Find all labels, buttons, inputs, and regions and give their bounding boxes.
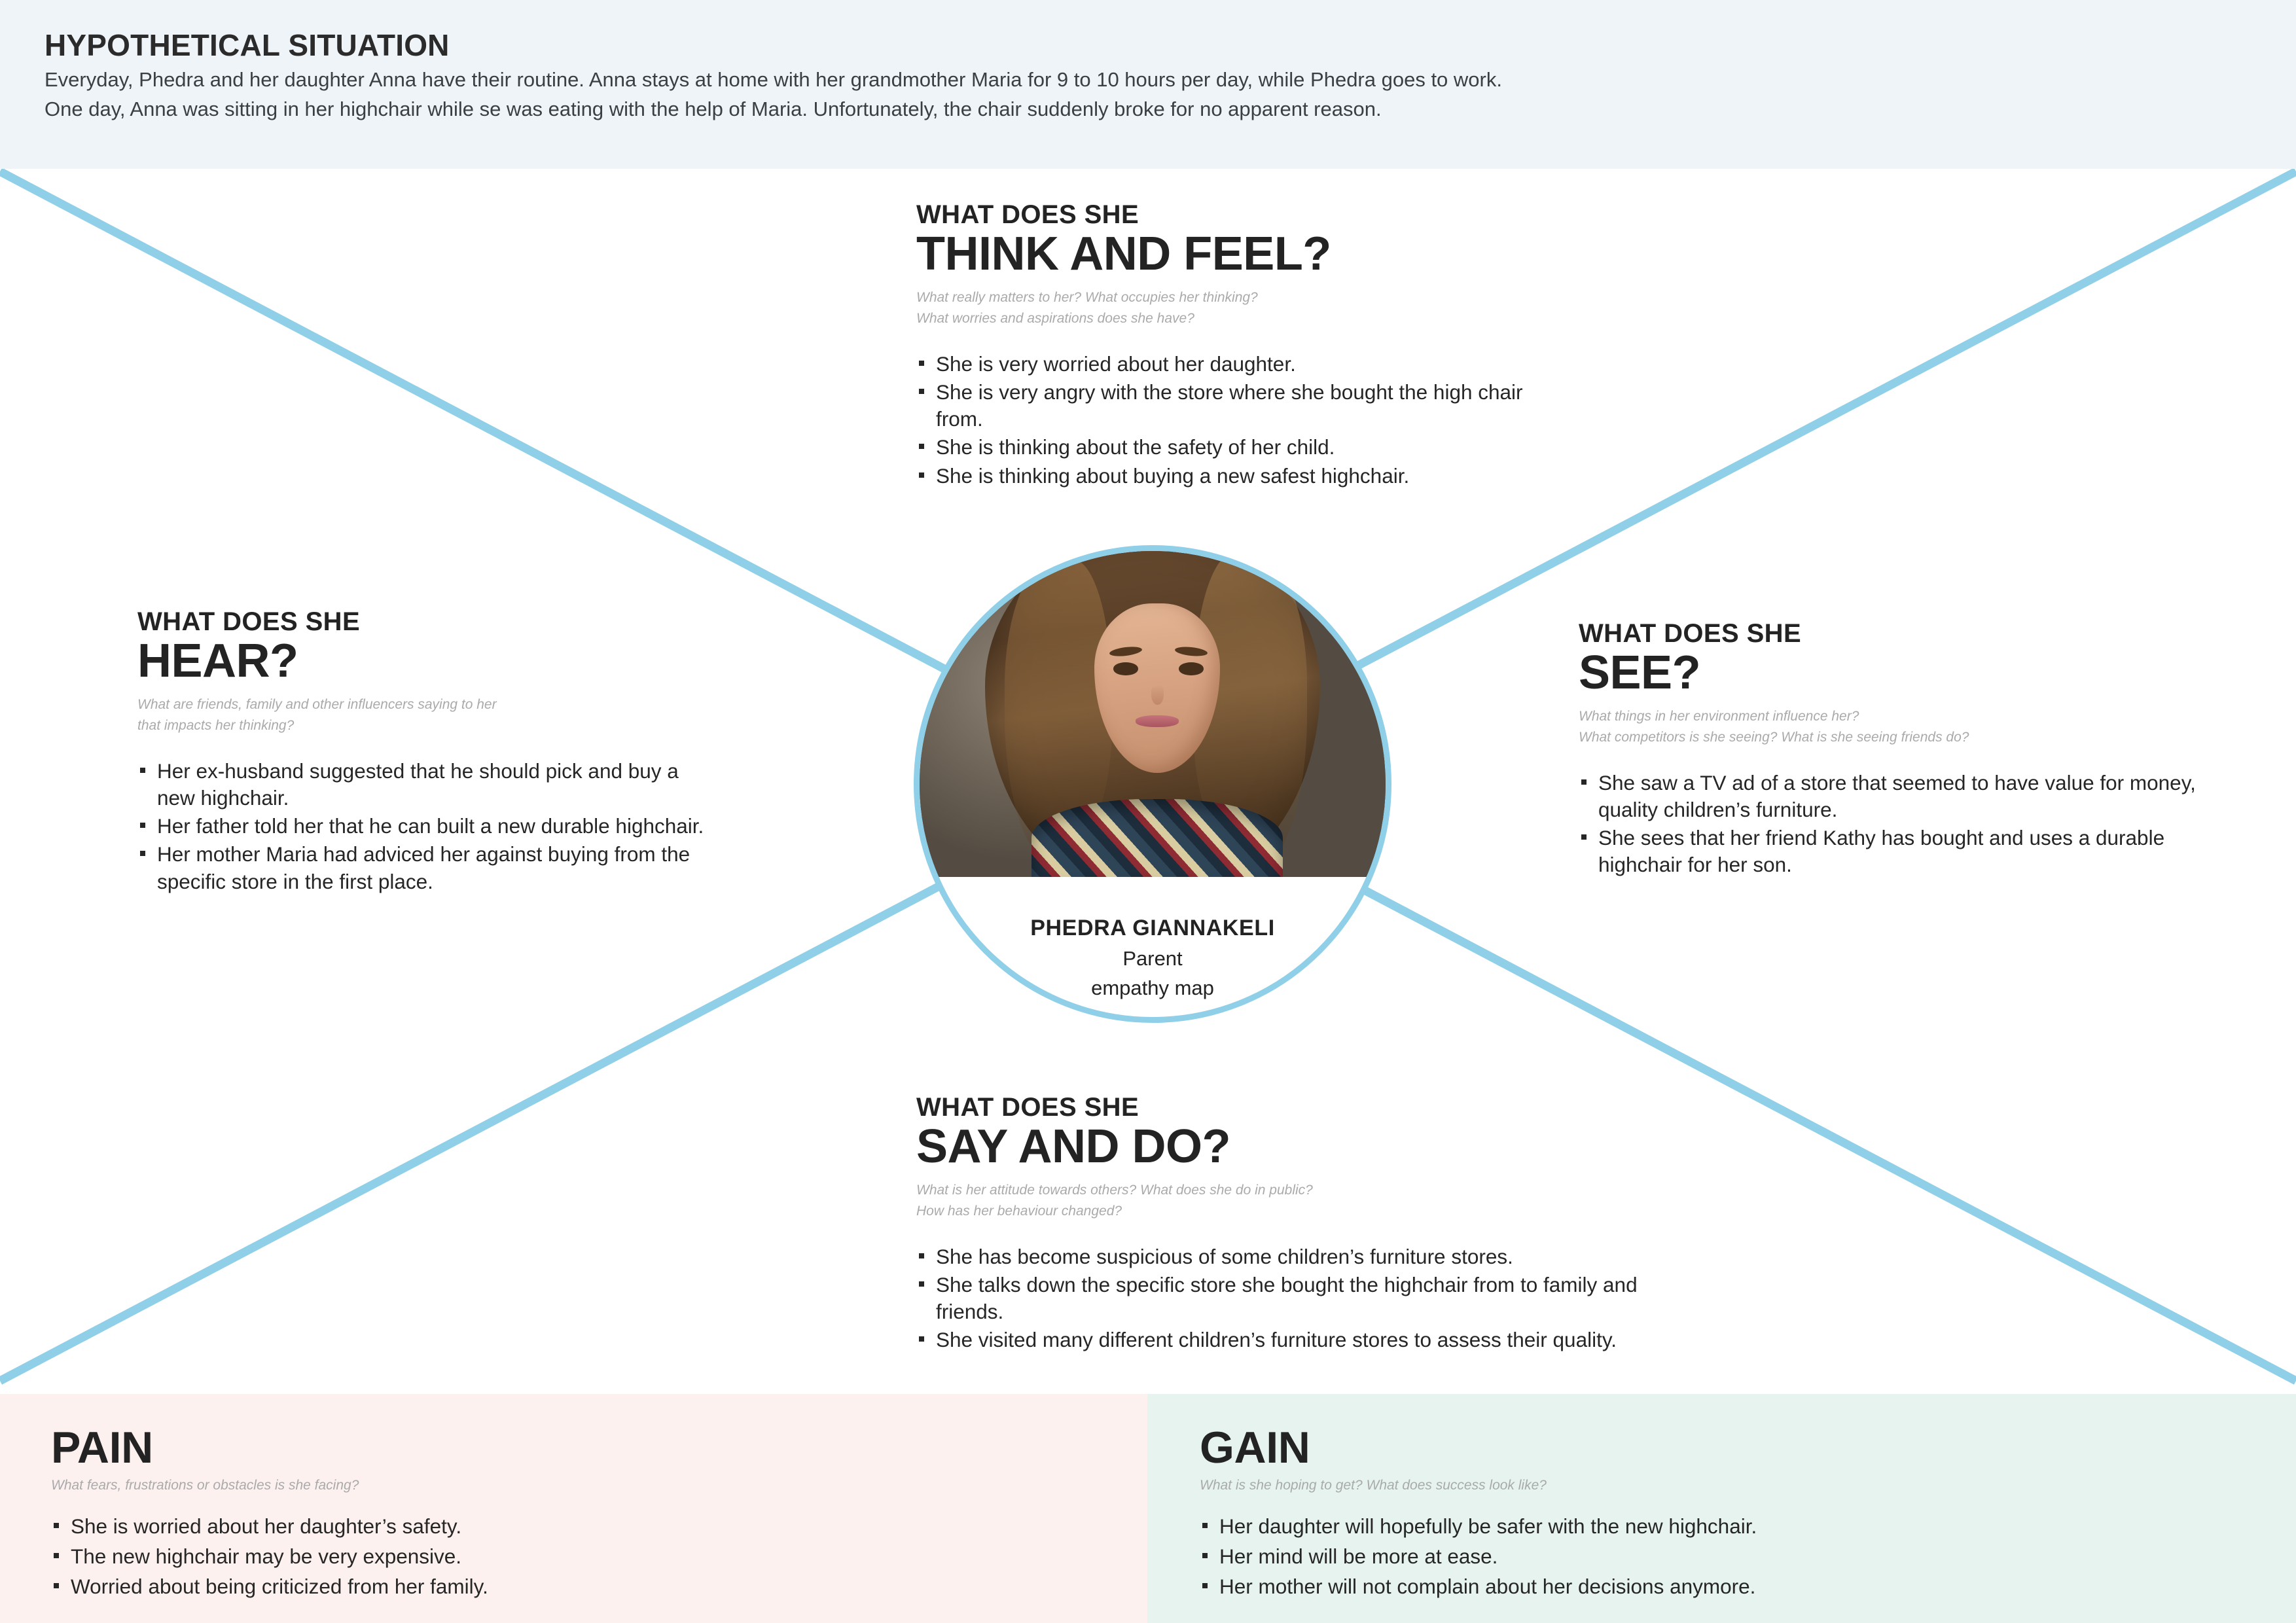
say-bullet-list: She has become suspicious of some childr… [916,1243,1689,1354]
portrait-eye-right [1179,662,1204,675]
list-item: She is thinking about the safety of her … [916,434,1571,461]
list-item: She is very angry with the store where s… [916,379,1571,433]
quadrant-hear: WHAT DOES SHE HEAR? What are friends, fa… [137,609,713,897]
list-item: She has become suspicious of some childr… [916,1243,1689,1270]
see-prompt-2: What competitors is she seeing? What is … [1579,727,2246,747]
think-kicker: WHAT DOES SHE [916,202,1571,228]
list-item: She saw a TV ad of a store that seemed t… [1579,770,2246,824]
hear-kicker: WHAT DOES SHE [137,609,713,635]
list-item: She visited many different children’s fu… [916,1327,1689,1353]
list-item: Her mother will not complain about her d… [1200,1573,2296,1601]
see-bullet-list: She saw a TV ad of a store that seemed t… [1579,770,2246,879]
list-item: Her father told her that he can built a … [137,813,713,840]
think-headline: THINK AND FEEL? [916,230,1571,278]
situation-line-2: One day, Anna was sitting in her highcha… [45,94,2296,124]
gain-title: GAIN [1200,1425,2296,1470]
quadrant-say-and-do: WHAT DOES SHE SAY AND DO? What is her at… [916,1094,1689,1355]
gain-bullet-list: Her daughter will hopefully be safer wit… [1200,1513,2296,1601]
see-kicker: WHAT DOES SHE [1579,620,2246,647]
situation-line-1: Everyday, Phedra and her daughter Anna h… [45,64,2296,95]
gain-panel: GAIN What is she hoping to get? What doe… [1147,1394,2296,1623]
list-item: She is thinking about buying a new safes… [916,463,1571,490]
list-item: She is very worried about her daughter. [916,351,1571,378]
portrait-nose [1151,685,1164,705]
list-item: She sees that her friend Kathy has bough… [1579,825,2246,879]
portrait-mouth [1136,715,1178,727]
quadrant-see: WHAT DOES SHE SEE? What things in her en… [1579,620,2246,880]
hear-prompt-1: What are friends, family and other influ… [137,694,713,715]
portrait-eye-left [1113,662,1138,675]
list-item: She is worried about her daughter’s safe… [51,1513,1147,1541]
gain-prompt: What is she hoping to get? What does suc… [1200,1478,2296,1493]
list-item: Her mind will be more at ease. [1200,1543,2296,1571]
hear-bullet-list: Her ex-husband suggested that he should … [137,758,713,895]
see-prompt-1: What things in her environment influence… [1579,706,2246,726]
list-item: Her ex-husband suggested that he should … [137,758,713,812]
list-item: Her mother Maria had adviced her against… [137,841,713,895]
pain-bullet-list: She is worried about her daughter’s safe… [51,1513,1147,1601]
quadrant-think-and-feel: WHAT DOES SHE THINK AND FEEL? What reall… [916,202,1571,491]
say-prompt-1: What is her attitude towards others? Wha… [916,1180,1689,1200]
persona-caption: PHEDRA GIANNAKELI Parent empathy map [920,916,1386,1000]
think-bullet-list: She is very worried about her daughter. … [916,351,1571,490]
list-item: Worried about being criticized from her … [51,1573,1147,1601]
hear-prompt-2: that impacts her thinking? [137,715,713,736]
portrait-plaid-shirt [1031,799,1283,878]
persona-subtitle: empathy map [920,976,1386,1000]
say-prompt-2: How has her behaviour changed? [916,1201,1689,1221]
pain-gain-band: PAIN What fears, frustrations or obstacl… [0,1394,2296,1623]
list-item: Her daughter will hopefully be safer wit… [1200,1513,2296,1541]
hypothetical-situation-band: HYPOTHETICAL SITUATION Everyday, Phedra … [0,0,2296,169]
say-headline: SAY AND DO? [916,1123,1689,1171]
persona-role: Parent [920,947,1386,971]
pain-title: PAIN [51,1425,1147,1470]
say-kicker: WHAT DOES SHE [916,1094,1689,1120]
persona-circle: PHEDRA GIANNAKELI Parent empathy map [914,545,1391,1023]
hear-headline: HEAR? [137,637,713,685]
persona-name: PHEDRA GIANNAKELI [920,916,1386,941]
list-item: She talks down the specific store she bo… [916,1272,1689,1326]
portrait-eyebrow-left [1109,645,1142,658]
see-headline: SEE? [1579,649,2246,697]
pain-prompt: What fears, frustrations or obstacles is… [51,1478,1147,1493]
persona-photo [920,551,1386,877]
think-prompt-2: What worries and aspirations does she ha… [916,308,1571,329]
think-prompt-1: What really matters to her? What occupie… [916,287,1571,308]
portrait-eyebrow-right [1175,646,1208,658]
situation-title: HYPOTHETICAL SITUATION [45,30,2296,60]
pain-panel: PAIN What fears, frustrations or obstacl… [0,1394,1147,1623]
list-item: The new highchair may be very expensive. [51,1543,1147,1571]
